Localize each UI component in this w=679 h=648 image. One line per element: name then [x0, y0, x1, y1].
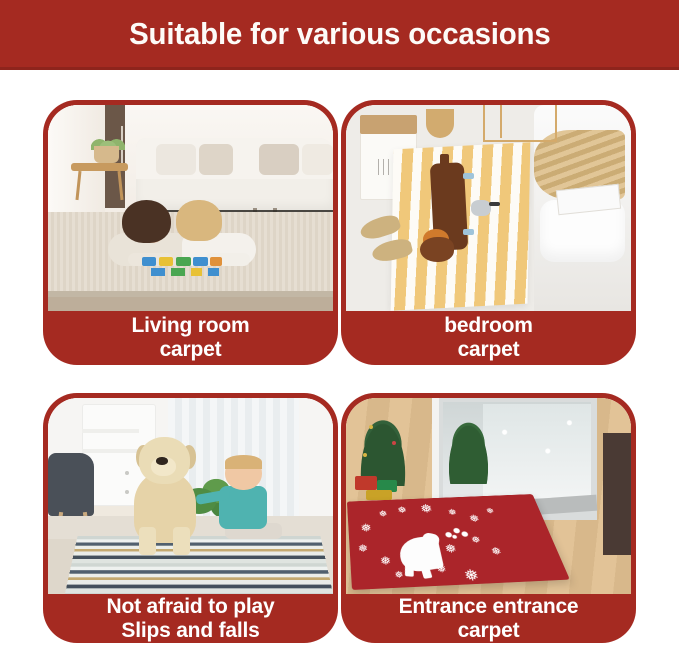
caption-line-2: carpet [458, 619, 520, 643]
caption-line-2: carpet [458, 338, 520, 362]
infographic-page: Suitable for various occasions [0, 0, 679, 648]
photo-entrance: ❅ ❅ ❅ ❅ ❅ ❅ ❅ ❅ ❅ ❅ ❅ ❅ ❅ ❅ ❅ [346, 398, 631, 594]
caption-play-safe: Not afraid to play Slips and falls [43, 594, 338, 643]
scene-bedroom-dachshund-runner [346, 105, 631, 311]
caption-line-1: Not afraid to play [107, 595, 275, 619]
caption-line-1: bedroom [444, 314, 532, 338]
caption-line-1: Living room [132, 314, 250, 338]
doormat-graphic: ❅ ❅ ❅ ❅ ❅ ❅ ❅ ❅ ❅ ❅ ❅ ❅ ❅ ❅ ❅ [347, 494, 570, 590]
occasion-card-play-safe[interactable]: Not afraid to play Slips and falls [43, 393, 338, 643]
caption-line-2: carpet [160, 338, 222, 362]
caption-line-2: Slips and falls [121, 619, 259, 643]
photo-living-room [48, 105, 333, 311]
occasion-card-entrance[interactable]: ❅ ❅ ❅ ❅ ❅ ❅ ❅ ❅ ❅ ❅ ❅ ❅ ❅ ❅ ❅ [341, 393, 636, 643]
caption-bedroom: bedroom carpet [341, 311, 636, 365]
caption-line-1: Entrance entrance [399, 595, 579, 619]
scene-toddler-and-labrador [48, 398, 333, 594]
page-title: Suitable for various occasions [129, 16, 550, 52]
occasion-card-bedroom[interactable]: bedroom carpet [341, 100, 636, 365]
caption-entrance: Entrance entrance carpet [341, 594, 636, 643]
scene-christmas-doormat: ❅ ❅ ❅ ❅ ❅ ❅ ❅ ❅ ❅ ❅ ❅ ❅ ❅ ❅ ❅ [346, 398, 631, 594]
photo-play-safe [48, 398, 333, 594]
occasion-card-grid: Living room carpet [0, 78, 679, 648]
photo-bedroom [346, 105, 631, 311]
scene-living-room-kids-puzzle [48, 105, 333, 311]
header-banner: Suitable for various occasions [0, 0, 679, 70]
caption-living-room: Living room carpet [43, 311, 338, 365]
occasion-card-living-room[interactable]: Living room carpet [43, 100, 338, 365]
